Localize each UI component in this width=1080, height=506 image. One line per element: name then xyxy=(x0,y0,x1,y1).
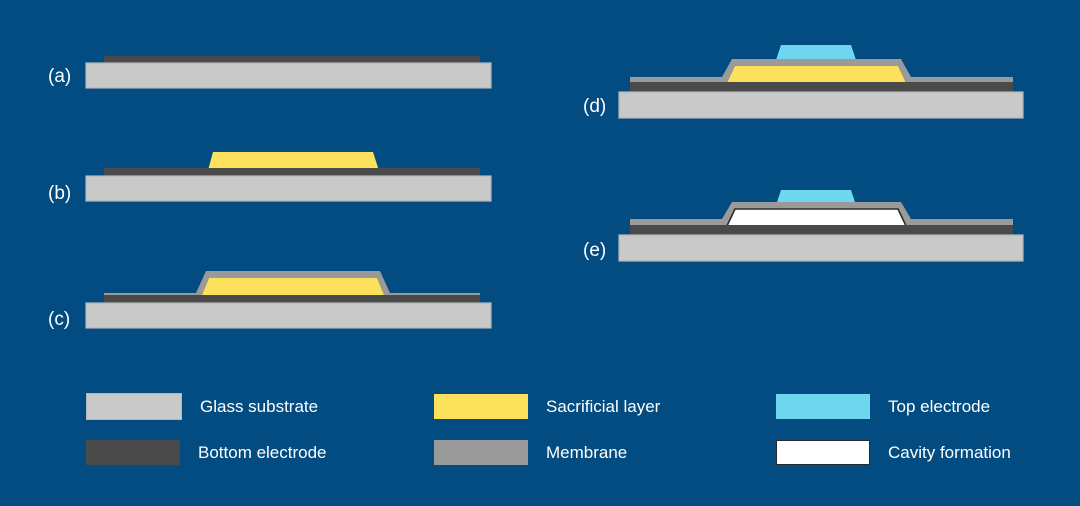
panel-a-graphic xyxy=(86,56,491,88)
glass-substrate-layer xyxy=(86,303,491,328)
legend-column-2: Sacrificial layer Membrane xyxy=(434,380,764,480)
legend-item-glass-substrate: Glass substrate xyxy=(86,393,318,419)
swatch-sacrificial-layer xyxy=(434,394,528,419)
legend-label-top-electrode: Top electrode xyxy=(888,398,990,415)
bottom-electrode-layer xyxy=(630,225,1013,235)
bottom-electrode-layer xyxy=(630,82,1013,92)
legend-label-bottom-electrode: Bottom electrode xyxy=(198,444,327,461)
legend-label-cavity-formation: Cavity formation xyxy=(888,444,1011,461)
legend-item-cavity-formation: Cavity formation xyxy=(776,439,1011,465)
legend-item-bottom-electrode: Bottom electrode xyxy=(86,439,327,465)
glass-substrate-layer xyxy=(86,176,491,201)
swatch-cavity-formation xyxy=(776,440,870,465)
bottom-electrode-layer xyxy=(104,168,480,176)
panel-e-label: (e) xyxy=(583,240,606,261)
glass-substrate-layer xyxy=(619,92,1023,118)
legend-label-membrane: Membrane xyxy=(546,444,627,461)
panel-d-graphic xyxy=(619,45,1023,118)
legend: Glass substrate Bottom electrode Sacrifi… xyxy=(0,380,1080,480)
panel-e-graphic xyxy=(619,190,1023,261)
glass-substrate-layer xyxy=(86,63,491,88)
bottom-electrode-layer xyxy=(104,295,480,303)
panel-b-graphic xyxy=(86,152,491,201)
panel-d-label: (d) xyxy=(583,96,606,117)
process-flow-figure: (a) (b) (c) (d) xyxy=(0,0,1080,506)
swatch-glass-substrate xyxy=(86,393,182,420)
panel-c-label: (c) xyxy=(48,309,70,330)
legend-item-sacrificial-layer: Sacrificial layer xyxy=(434,393,660,419)
legend-item-membrane: Membrane xyxy=(434,439,627,465)
top-electrode-trapezoid xyxy=(776,45,856,60)
legend-label-sacrificial-layer: Sacrificial layer xyxy=(546,398,660,415)
glass-substrate-layer xyxy=(619,235,1023,261)
legend-item-top-electrode: Top electrode xyxy=(776,393,990,419)
legend-column-3: Top electrode Cavity formation xyxy=(776,380,1080,480)
panel-b-label: (b) xyxy=(48,183,71,204)
panel-c-graphic xyxy=(86,271,491,328)
legend-column-1: Glass substrate Bottom electrode xyxy=(86,380,416,480)
legend-label-glass-substrate: Glass substrate xyxy=(200,398,318,415)
swatch-membrane xyxy=(434,440,528,465)
swatch-top-electrode xyxy=(776,394,870,419)
swatch-bottom-electrode xyxy=(86,440,180,465)
panel-a-label: (a) xyxy=(48,66,71,87)
